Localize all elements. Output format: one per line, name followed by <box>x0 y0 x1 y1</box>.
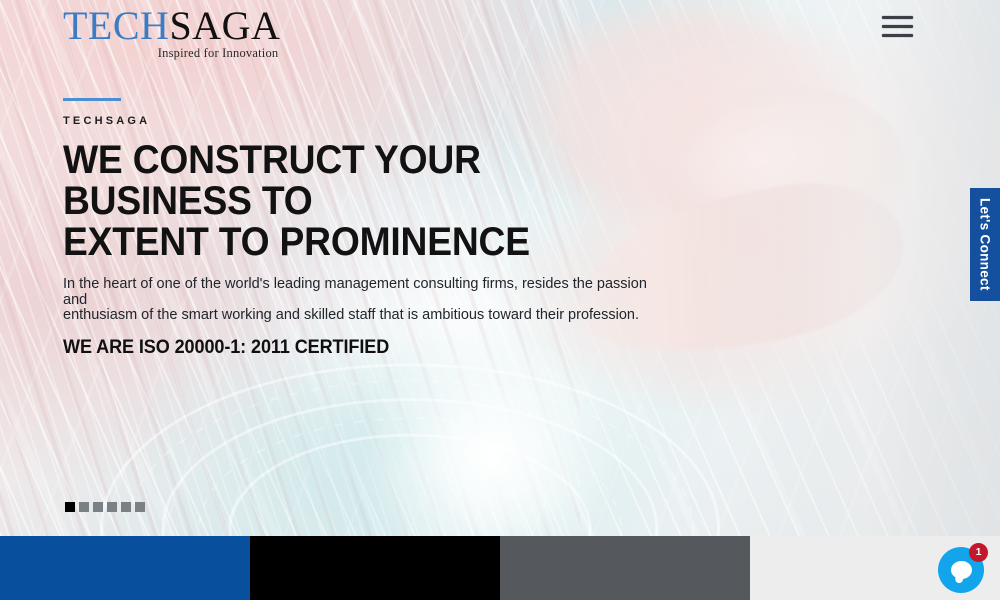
hero-content: TECHSAGA WE CONSTRUCT YOUR BUSINESS TO E… <box>63 98 703 359</box>
hamburger-bar-3 <box>882 34 913 37</box>
slider-pagination <box>65 502 145 512</box>
accent-bar <box>63 98 121 101</box>
slider-dot-3[interactable] <box>93 502 103 512</box>
hero-eyebrow: TECHSAGA <box>63 115 703 127</box>
color-swatch-gray <box>500 536 750 600</box>
hamburger-bar-2 <box>882 25 913 28</box>
slider-dot-5[interactable] <box>121 502 131 512</box>
logo-text-saga: SAGA <box>169 3 280 48</box>
hamburger-bar-1 <box>882 16 913 19</box>
color-swatch-black <box>250 536 500 600</box>
hero-headline-line-2: EXTENT TO PROMINENCE <box>63 222 658 263</box>
hero-paragraph-line-2: enthusiasm of the smart working and skil… <box>63 308 663 324</box>
hero-paragraph-line-1: In the heart of one of the world's leadi… <box>63 277 663 308</box>
logo[interactable]: TECHSAGA Inspired for Innovation <box>63 6 280 60</box>
iso-certification-text: WE ARE ISO 20000-1: 2011 CERTIFIED <box>63 337 671 359</box>
logo-tagline: Inspired for Innovation <box>63 47 280 60</box>
chat-bubble-shape <box>951 561 972 579</box>
chat-widget-button[interactable]: 1 <box>938 547 984 593</box>
lets-connect-tab[interactable]: Let's Connect <box>970 188 1000 301</box>
right-fade-overlay <box>700 0 1000 536</box>
fingertip-touch-glow <box>330 330 650 536</box>
chat-unread-badge: 1 <box>969 543 988 562</box>
slider-dot-6[interactable] <box>135 502 145 512</box>
page-root: TECHSAGA Inspired for Innovation TECHSAG… <box>0 0 1000 600</box>
hero-paragraph: In the heart of one of the world's leadi… <box>63 277 663 324</box>
lets-connect-label: Let's Connect <box>978 198 993 291</box>
logo-wordmark: TECHSAGA <box>63 6 280 46</box>
hero-headline: WE CONSTRUCT YOUR BUSINESS TO EXTENT TO … <box>63 140 658 263</box>
slider-dot-1[interactable] <box>65 502 75 512</box>
hero-headline-line-1: WE CONSTRUCT YOUR BUSINESS TO <box>63 140 658 222</box>
site-header: TECHSAGA Inspired for Innovation <box>0 0 1000 62</box>
slider-dot-4[interactable] <box>107 502 117 512</box>
color-strip <box>0 536 1000 600</box>
hamburger-menu-icon[interactable] <box>882 16 914 42</box>
logo-text-tech: TECH <box>63 3 169 48</box>
color-swatch-blue <box>0 536 250 600</box>
slider-dot-2[interactable] <box>79 502 89 512</box>
